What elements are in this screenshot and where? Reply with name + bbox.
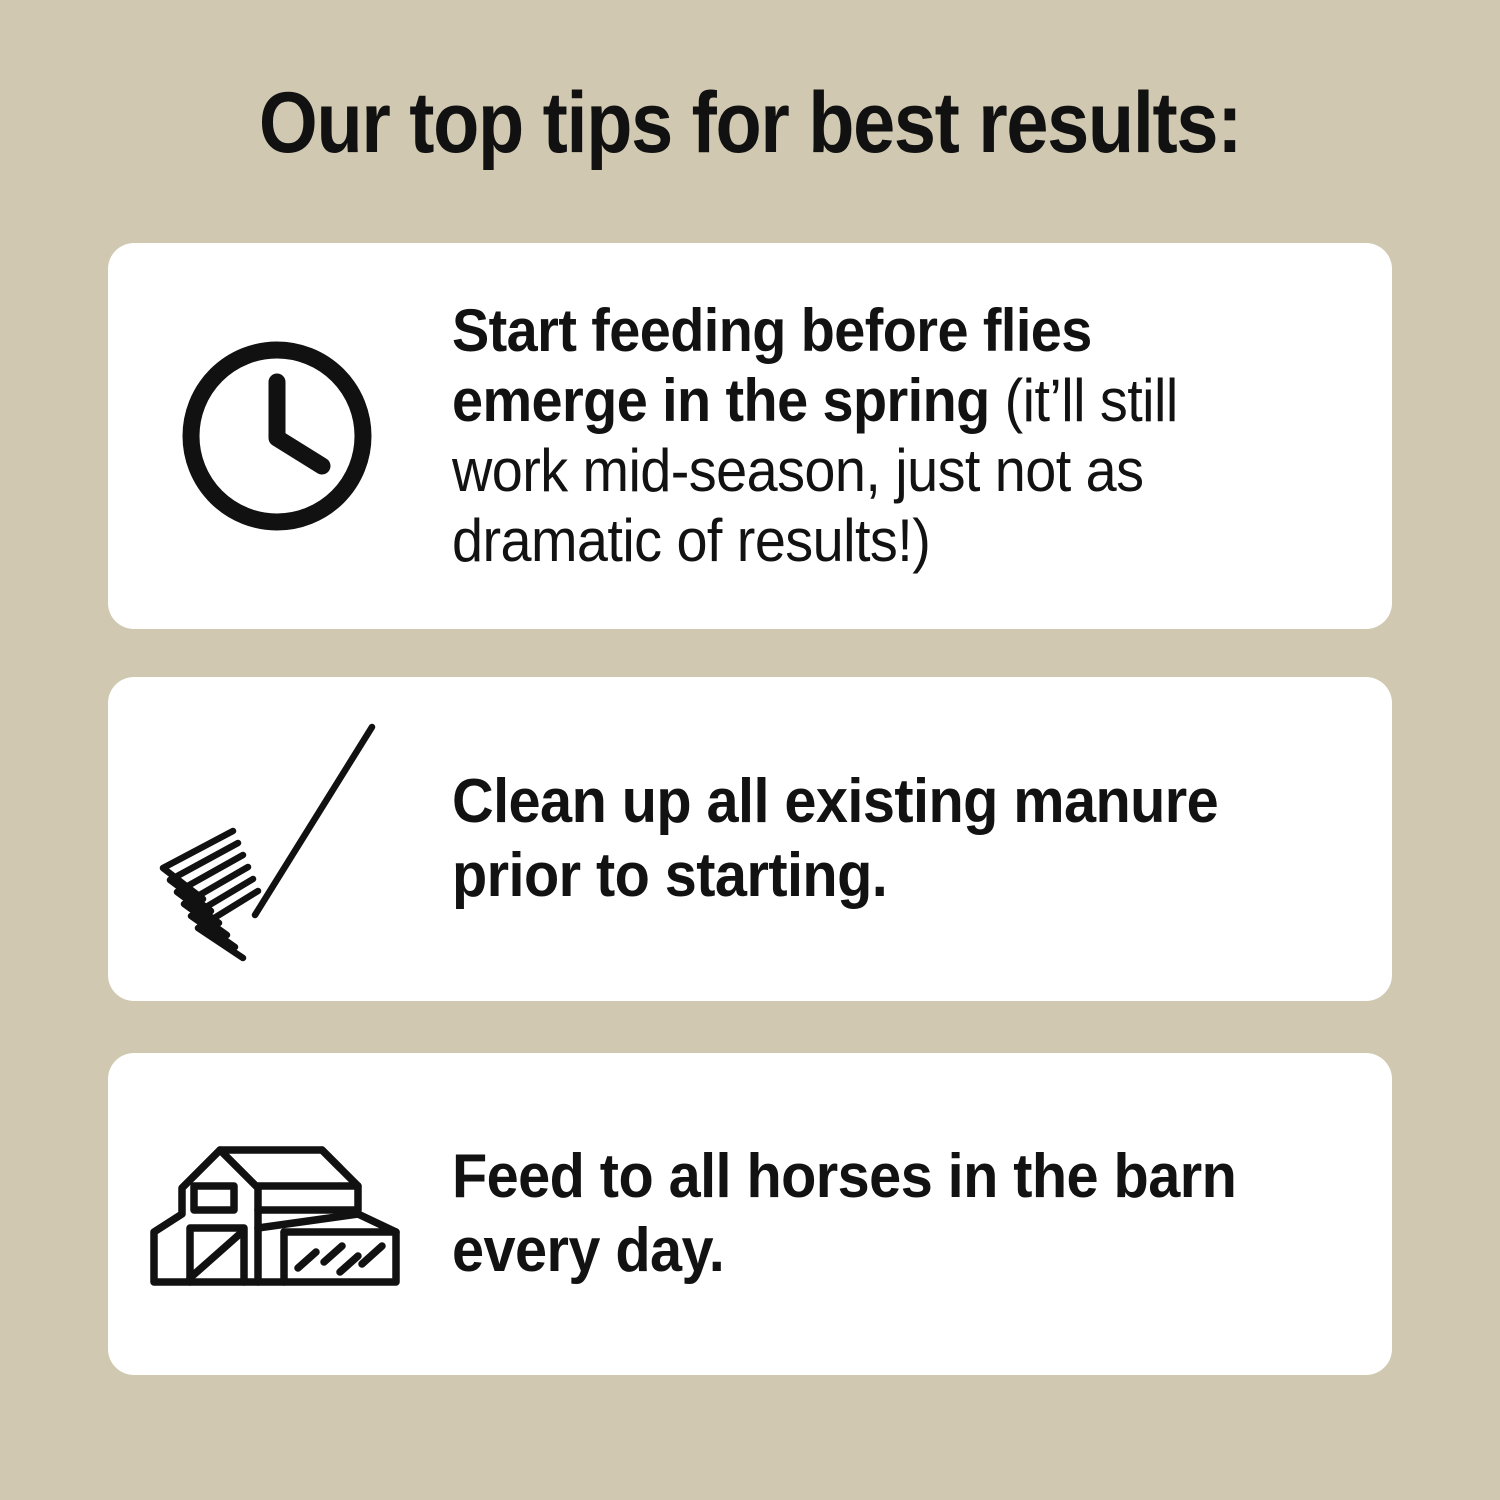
tip-text-3-bold: Feed to all horses in the barn every day… [452, 1142, 1236, 1285]
tip-icon-container-2 [108, 677, 452, 1001]
barn-icon [144, 1136, 406, 1292]
tip-text-2-bold: Clean up all existing manure prior to st… [452, 767, 1218, 910]
tip-text-container-1: Start feeding before flies emerge in the… [452, 296, 1392, 577]
tip-text-2: Clean up all existing manure prior to st… [452, 765, 1274, 914]
tip-text-container-2: Clean up all existing manure prior to st… [452, 765, 1392, 914]
tip-icon-container-3 [108, 1053, 452, 1375]
tip-text-3: Feed to all horses in the barn every day… [452, 1140, 1274, 1289]
tip-card-2: Clean up all existing manure prior to st… [108, 677, 1392, 1001]
infographic-page: Our top tips for best results: Start fee… [0, 0, 1500, 1500]
pitchfork-icon [147, 711, 395, 967]
tip-card-1: Start feeding before flies emerge in the… [108, 243, 1392, 629]
tip-text-1: Start feeding before flies emerge in the… [452, 296, 1274, 577]
page-title: Our top tips for best results: [90, 78, 1410, 168]
clock-icon [179, 338, 375, 534]
tip-text-container-3: Feed to all horses in the barn every day… [452, 1140, 1392, 1289]
tip-card-3: Feed to all horses in the barn every day… [108, 1053, 1392, 1375]
tip-icon-container-1 [108, 243, 452, 629]
